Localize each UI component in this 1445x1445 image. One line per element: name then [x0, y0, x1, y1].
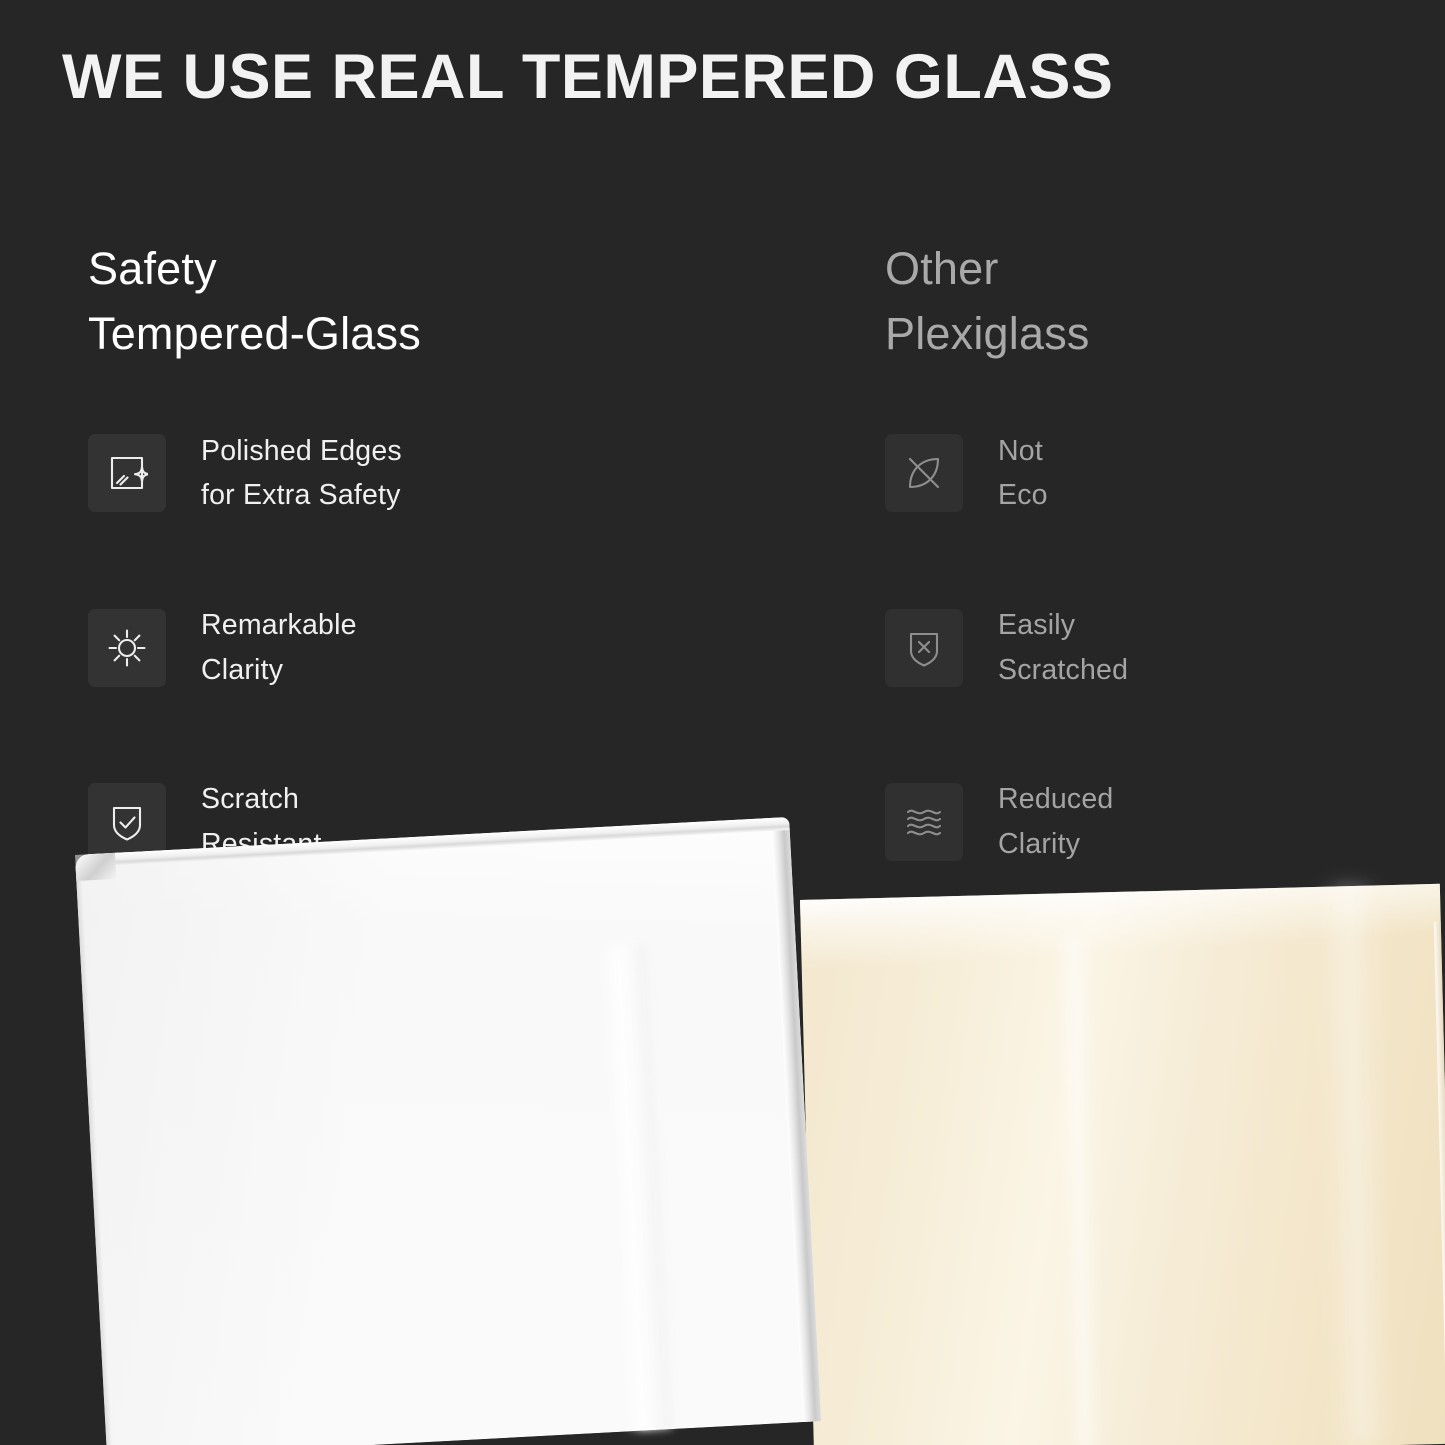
feature-row: Easily Scratched [885, 603, 1425, 692]
feature-row: Not Eco [885, 429, 1425, 518]
glass-shading [75, 817, 821, 1445]
plexiglass-panel [800, 884, 1445, 1445]
tempered-glass-panel [75, 817, 821, 1445]
polished-edge-sparkle-icon [88, 434, 166, 512]
feature-label: Not Eco [998, 429, 1048, 518]
feature-row: Remarkable Clarity [88, 603, 808, 692]
plexiglass-right-edge [1434, 922, 1445, 1444]
plexiglass-sheen-secondary [1320, 885, 1392, 1445]
glass-rounded-corner [75, 853, 116, 881]
infographic-canvas: WE USE REAL TEMPERED GLASS Safety Temper… [0, 0, 1445, 1445]
page-title: WE USE REAL TEMPERED GLASS [62, 44, 1392, 110]
product-photo [0, 845, 1445, 1445]
sun-brightness-icon [88, 609, 166, 687]
column-other-plexiglass: Other Plexiglass Not Eco Easily Scratche… [885, 236, 1425, 867]
column-tempered-glass: Safety Tempered-Glass Polished Edges for… [88, 236, 808, 867]
shield-x-icon [885, 609, 963, 687]
leaf-crossed-out-icon [885, 434, 963, 512]
feature-label: Remarkable Clarity [201, 603, 357, 692]
column-heading-left: Safety Tempered-Glass [88, 236, 808, 367]
feature-label: Easily Scratched [998, 603, 1128, 692]
feature-label: Polished Edges for Extra Safety [201, 429, 402, 518]
column-heading-right: Other Plexiglass [885, 236, 1425, 367]
plexiglass-sheen [1057, 937, 1104, 1445]
feature-row: Polished Edges for Extra Safety [88, 429, 808, 518]
